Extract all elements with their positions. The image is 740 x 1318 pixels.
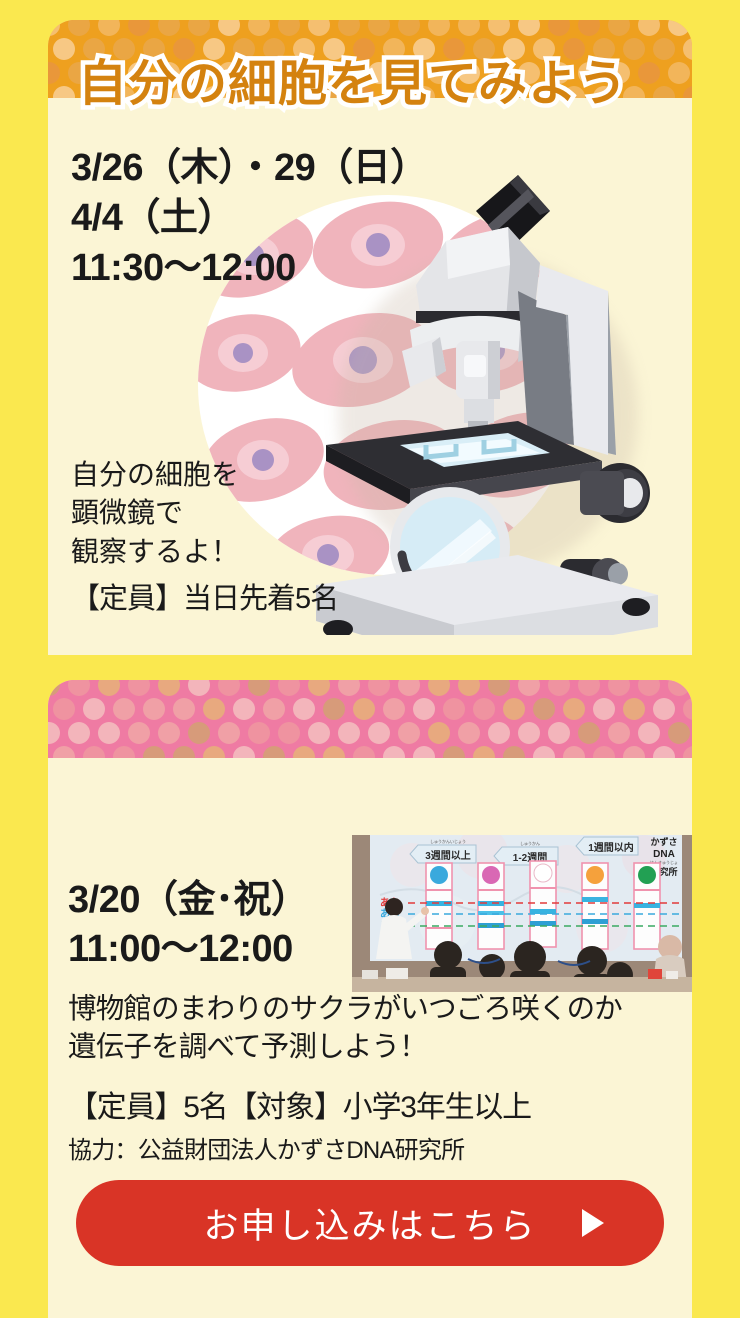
header-dot <box>458 680 480 696</box>
header-dot <box>413 746 435 758</box>
header-dot <box>368 680 390 696</box>
header-dot <box>128 722 150 744</box>
header-dot <box>653 38 675 60</box>
header-dot <box>218 20 240 36</box>
header-dot <box>338 20 360 36</box>
header-dot <box>473 698 495 720</box>
header-dot <box>323 746 345 758</box>
header-dot <box>308 680 330 696</box>
header-dot <box>308 722 330 744</box>
header-dot <box>593 746 615 758</box>
header-dot <box>578 20 600 36</box>
header-dot <box>248 20 270 36</box>
header-dot <box>398 680 420 696</box>
header-dot <box>623 698 645 720</box>
header-dot <box>653 746 675 758</box>
event-date-sakura: 3/20（金･祝） 11:00〜12:00 <box>68 876 308 975</box>
header-dot <box>53 746 75 758</box>
header-dot <box>413 698 435 720</box>
header-dot <box>203 698 225 720</box>
svg-text:しゅうかんいじょう: しゅうかんいじょう <box>430 838 466 844</box>
header-dot <box>503 698 525 720</box>
header-dot <box>533 746 555 758</box>
header-dot <box>158 680 180 696</box>
header-dot <box>608 20 630 36</box>
header-dot <box>458 722 480 744</box>
header-dot <box>428 722 450 744</box>
header-dot <box>458 20 480 36</box>
header-dot <box>188 722 210 744</box>
svg-text:かずさ: かずさ <box>650 836 677 847</box>
header-dot <box>638 20 660 36</box>
header-dot <box>278 722 300 744</box>
header-dot <box>48 722 60 744</box>
lecture-photo: 3週間以上 1-2週間 1週間以内 しゅうかんいじょう しゅうかん しゅうかんい… <box>352 835 692 992</box>
header-dot <box>518 20 540 36</box>
triangle-right-icon <box>582 1209 604 1237</box>
header-dot <box>473 746 495 758</box>
header-dot <box>308 20 330 36</box>
header-dot <box>48 62 60 84</box>
header-dot <box>638 62 660 84</box>
svg-text:3週間以上: 3週間以上 <box>425 849 471 862</box>
header-dot <box>398 722 420 744</box>
svg-text:1週間以内: 1週間以内 <box>588 841 634 854</box>
header-dot <box>338 722 360 744</box>
card-header-band-pink <box>48 680 692 758</box>
header-dot <box>368 20 390 36</box>
event-capacity-microscope: 【定員】当日先着5名 <box>71 582 338 617</box>
header-dot <box>503 746 525 758</box>
header-dot <box>293 746 315 758</box>
poster-page: 自分の細胞を見てみよう 3/26（木）・29（日） 4/4（土） 11:30〜1… <box>0 0 740 1318</box>
header-dot <box>383 698 405 720</box>
header-dot <box>188 680 210 696</box>
header-dot <box>203 746 225 758</box>
header-dot <box>353 746 375 758</box>
header-dot <box>68 722 90 744</box>
header-dot <box>368 722 390 744</box>
header-dot <box>233 698 255 720</box>
header-dot <box>263 698 285 720</box>
svg-text:DNA: DNA <box>653 849 675 860</box>
header-dot <box>143 698 165 720</box>
event-description-sakura: 博物館のまわりのサクラがいつごろ咲くのか 遺伝子を調べて予測しよう！ <box>68 990 622 1066</box>
header-dot <box>683 698 692 720</box>
header-dot <box>248 680 270 696</box>
header-dot <box>398 20 420 36</box>
header-dot <box>113 746 135 758</box>
card-title-microscope: 自分の細胞を見てみよう <box>78 60 628 110</box>
header-dot <box>53 86 75 98</box>
header-dot <box>383 746 405 758</box>
header-dot <box>98 20 120 36</box>
header-dot <box>48 20 60 36</box>
header-dot <box>143 746 165 758</box>
header-dot <box>608 722 630 744</box>
header-dot <box>563 746 585 758</box>
header-dot <box>98 722 120 744</box>
apply-button[interactable]: お申し込みはこちら <box>76 1180 664 1266</box>
header-dot <box>668 62 690 84</box>
svg-text:しゅうかん: しゅうかん <box>520 840 540 846</box>
header-dot <box>98 680 120 696</box>
header-dot <box>623 746 645 758</box>
header-dot <box>548 680 570 696</box>
header-dot <box>488 20 510 36</box>
header-dot <box>428 20 450 36</box>
header-dot <box>248 722 270 744</box>
header-dot <box>128 680 150 696</box>
event-description-microscope: 自分の細胞を 顕微鏡で 観察するよ！ <box>71 456 239 571</box>
header-dot <box>593 698 615 720</box>
header-dot <box>608 680 630 696</box>
header-dot <box>563 698 585 720</box>
header-dot <box>488 722 510 744</box>
header-dot <box>488 680 510 696</box>
header-dot <box>278 680 300 696</box>
header-dot <box>548 722 570 744</box>
header-dot <box>53 38 75 60</box>
header-dot <box>683 86 692 98</box>
header-dot <box>263 746 285 758</box>
header-dot <box>48 680 60 696</box>
header-dot <box>668 722 690 744</box>
header-dot <box>683 38 692 60</box>
header-dot <box>278 20 300 36</box>
header-dot <box>683 746 692 758</box>
header-dot <box>83 698 105 720</box>
event-credit-sakura: 協力：公益財団法人かずさDNA研究所 <box>68 1130 464 1165</box>
header-dot <box>653 86 675 98</box>
header-dot <box>158 20 180 36</box>
header-dot <box>128 20 150 36</box>
header-dot <box>68 680 90 696</box>
header-dot <box>233 746 255 758</box>
header-dot <box>548 20 570 36</box>
header-dot <box>443 746 465 758</box>
header-dot <box>653 698 675 720</box>
header-dot <box>638 680 660 696</box>
header-dot <box>218 722 240 744</box>
header-dot <box>638 722 660 744</box>
header-dot <box>518 680 540 696</box>
event-capacity-sakura: 【定員】5名【対象】小学3年生以上 <box>68 1082 531 1126</box>
header-dot <box>68 20 90 36</box>
header-dot <box>668 680 690 696</box>
header-dot <box>293 698 315 720</box>
header-dot <box>173 698 195 720</box>
header-dot <box>338 680 360 696</box>
header-dot <box>173 746 195 758</box>
header-dot <box>533 698 555 720</box>
event-date-microscope: 3/26（木）・29（日） 4/4（土） 11:30〜12:00 <box>71 143 428 293</box>
header-dot <box>668 20 690 36</box>
header-dot <box>188 20 210 36</box>
header-dot <box>158 722 180 744</box>
header-dot <box>323 698 345 720</box>
apply-button-label: お申し込みはこちら <box>203 1198 536 1249</box>
header-dot <box>578 680 600 696</box>
header-dot <box>428 680 450 696</box>
event-card-microscope: 自分の細胞を見てみよう 3/26（木）・29（日） 4/4（土） 11:30〜1… <box>48 20 692 655</box>
header-dot <box>113 698 135 720</box>
header-dot <box>578 722 600 744</box>
header-dot <box>53 698 75 720</box>
event-card-sakura: 3週間以上 1-2週間 1週間以内 しゅうかんいじょう しゅうかん しゅうかんい… <box>48 680 692 1318</box>
header-dot <box>443 698 465 720</box>
header-dot <box>353 698 375 720</box>
header-dot <box>518 722 540 744</box>
header-dot <box>83 746 105 758</box>
header-dot <box>218 680 240 696</box>
